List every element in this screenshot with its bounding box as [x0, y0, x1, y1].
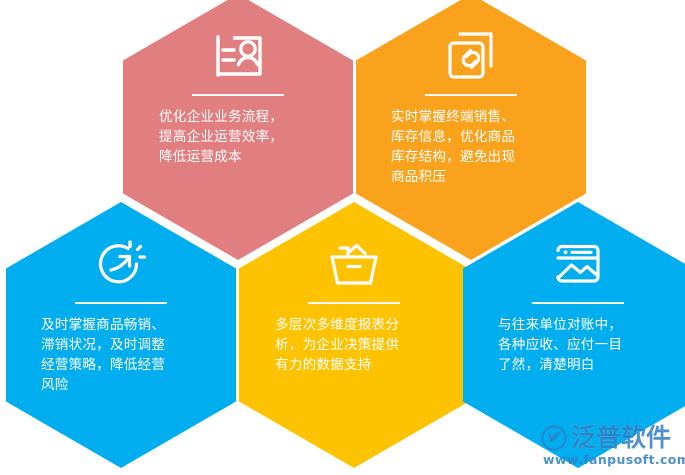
hexagon-text: 与往来单位对账中， 各种应收、应付一目 了然，清楚明白 [498, 315, 658, 375]
hexagon-text: 优化企业业务流程， 提高企业运营效率， 降低运营成本 [159, 107, 317, 167]
hexagon-card-multidimensional-reports[interactable]: 多层次多维度报表分 析，为企业决策提供 有力的数据支持 [239, 202, 469, 468]
divider-rule [192, 94, 284, 96]
hexagon-text: 及时掌握商品畅销、 滞销状况，及时调整 经营策略，降低经营 风险 [41, 315, 201, 395]
divider-rule [75, 302, 167, 304]
basket-icon [326, 236, 382, 292]
linked-documents-icon [443, 28, 499, 84]
hexagon-text: 多层次多维度报表分 析，为企业决策提供 有力的数据支持 [275, 315, 433, 375]
contact-card-icon [210, 28, 266, 84]
growth-arrow-circle-icon [93, 236, 149, 292]
hexagon-text: 实时掌握终端销售、 库存信息，优化商品 库存结构，避免出现 商品积压 [391, 107, 551, 187]
divider-rule [425, 94, 517, 96]
infographic-canvas: 优化企业业务流程， 提高企业运营效率， 降低运营成本 实时掌握终端销售、 库存信… [0, 0, 685, 475]
divider-rule [308, 302, 400, 304]
hexagon-card-sales-status-tracking[interactable]: 及时掌握商品畅销、 滞销状况，及时调整 经营策略，降低经营 风险 [6, 202, 236, 468]
report-chart-window-icon [550, 236, 606, 292]
hexagon-card-optimize-process[interactable]: 优化企业业务流程， 提高企业运营效率， 降低运营成本 [123, 0, 353, 260]
divider-rule [532, 302, 624, 304]
